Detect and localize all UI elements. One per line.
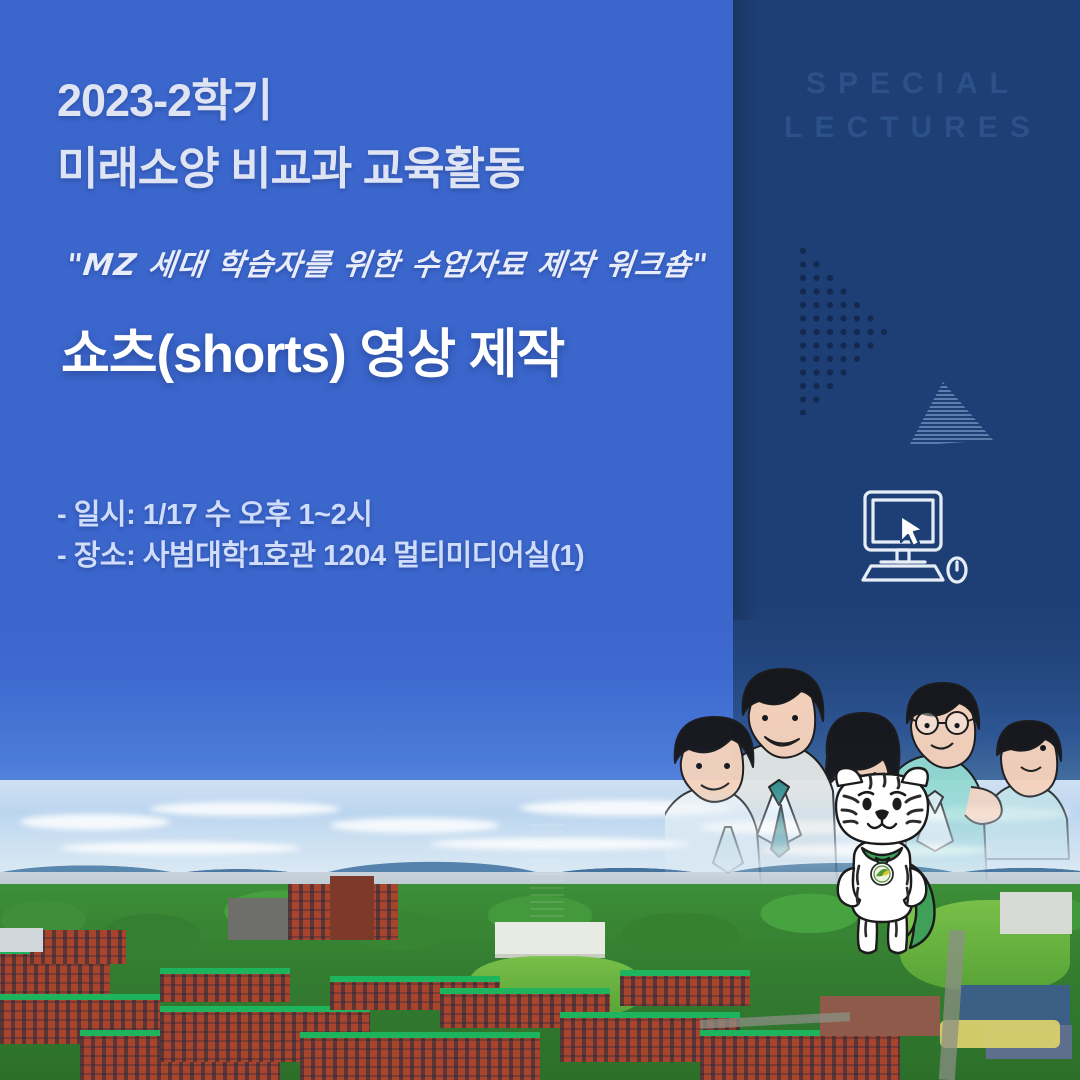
poster-subtitle: "MZ 세대 학습자를 위한 수업자료 제작 워크숍" — [64, 240, 711, 284]
campus-building — [620, 970, 750, 1006]
special-lectures-line1: SPECIAL — [757, 62, 1057, 106]
campus-building — [228, 898, 294, 940]
campus-building — [160, 968, 290, 1002]
campus-building — [1000, 892, 1072, 934]
desktop-computer-cursor-icon — [845, 480, 980, 590]
campus-building — [700, 1030, 900, 1080]
poster-title: 쇼츠(shorts) 영상 제작 — [61, 312, 564, 388]
campus-building — [0, 928, 43, 952]
cloud — [150, 802, 340, 816]
info-location: - 장소: 사범대학1호관 1204 멀티미디어실(1) — [57, 536, 584, 577]
striped-triangle-icon — [905, 378, 1000, 450]
special-lectures-label: SPECIAL LECTURES — [757, 62, 1057, 149]
cloud — [330, 818, 500, 833]
campus-building — [30, 930, 126, 964]
heading-line-1: 2023-2학기 — [57, 72, 272, 130]
campus-building — [330, 876, 374, 940]
special-lectures-line2: LECTURES — [757, 106, 1057, 150]
campus-tower — [530, 824, 564, 932]
campus-main-hall — [495, 922, 605, 958]
cloud — [20, 814, 170, 830]
heading-line-2: 미래소양 비교과 교육활동 — [57, 140, 524, 198]
poster-canvas: SPECIAL LECTURES — [0, 0, 1080, 1080]
panel-divider — [733, 0, 759, 620]
poster-info-list: - 일시: 1/17 수 오후 1~2시 - 장소: 사범대학1호관 1204 … — [57, 495, 584, 577]
white-tiger-mascot — [812, 762, 952, 962]
info-datetime: - 일시: 1/17 수 오후 1~2시 — [57, 495, 584, 536]
campus-building — [960, 985, 1070, 1025]
campus-building — [300, 1032, 540, 1080]
